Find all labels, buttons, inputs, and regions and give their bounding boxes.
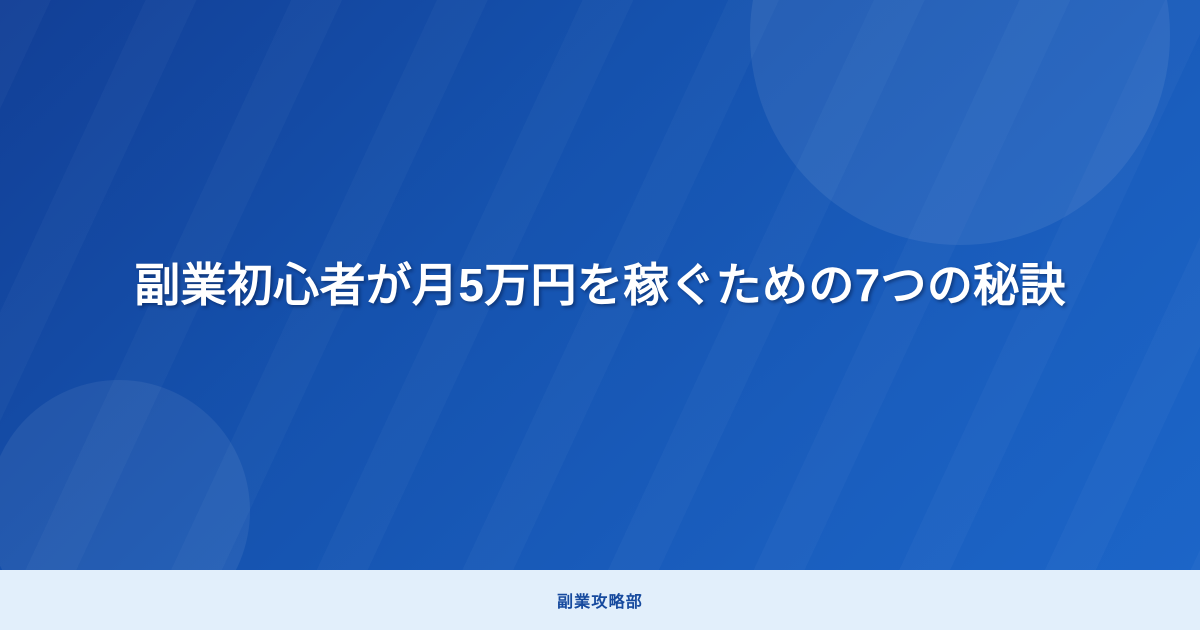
footer-band: 副業攻略部 xyxy=(0,570,1200,630)
ogp-card: 副業初心者が月5万円を稼ぐための7つの秘訣 副業攻略部 xyxy=(0,0,1200,630)
site-name: 副業攻略部 xyxy=(557,588,643,612)
title-area: 副業初心者が月5万円を稼ぐための7つの秘訣 xyxy=(0,0,1200,570)
page-title: 副業初心者が月5万円を稼ぐための7つの秘訣 xyxy=(134,254,1065,316)
